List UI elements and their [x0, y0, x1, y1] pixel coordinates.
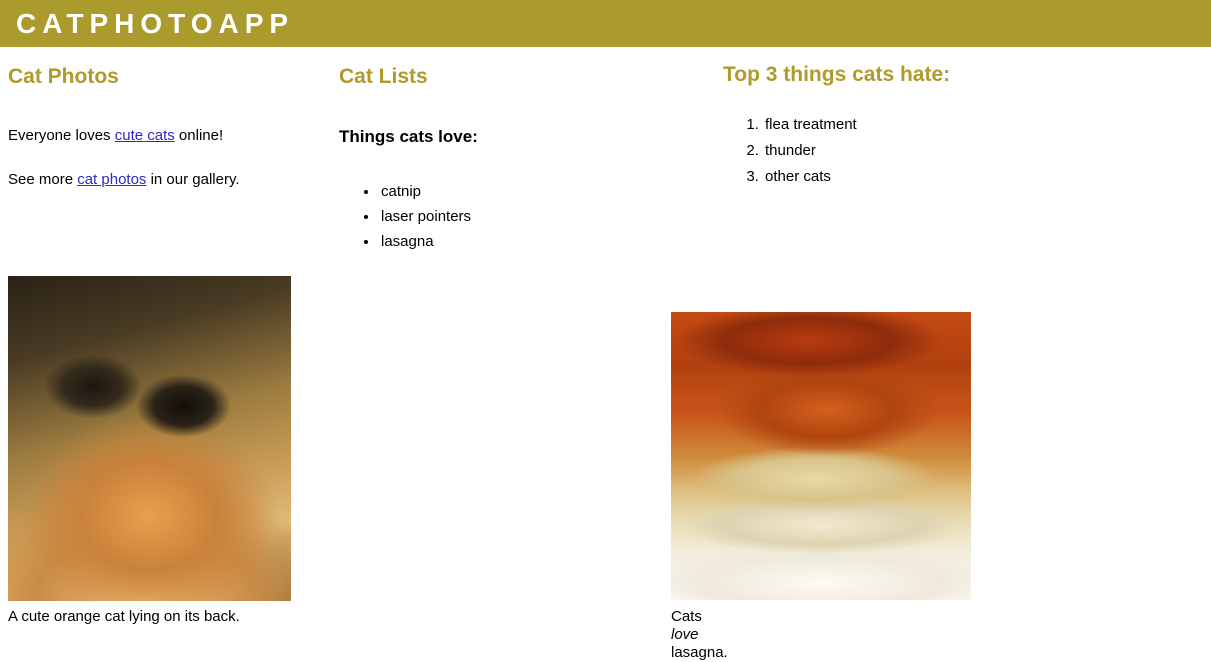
cat-photos-link[interactable]: cat photos	[77, 171, 146, 188]
column-cat-photos: Cat Photos Everyone loves cute cats onli…	[0, 47, 331, 189]
cute-cats-link[interactable]: cute cats	[115, 127, 175, 144]
list-item: catnip	[379, 179, 707, 204]
list-item: thunder	[763, 138, 1203, 164]
orange-cat-caption: A cute orange cat lying on its back.	[8, 608, 240, 626]
paragraph-2-text-post: in our gallery.	[146, 171, 239, 188]
lasagna-caption-pre: Cats	[671, 608, 702, 625]
things-cats-love-list: catnip laser pointers lasagna	[339, 179, 707, 254]
content-columns: Cat Photos Everyone loves cute cats onli…	[0, 47, 1211, 597]
lasagna-caption-post: lasagna.	[671, 644, 728, 661]
cat-lists-heading: Cat Lists	[339, 65, 707, 89]
lasagna-caption-emphasis: love	[671, 626, 699, 643]
list-item: flea treatment	[763, 112, 1203, 138]
cats-hate-heading: Top 3 things cats hate:	[723, 63, 1203, 87]
lasagna-photo[interactable]	[671, 312, 971, 600]
list-item: lasagna	[379, 229, 707, 254]
column-cats-hate: Top 3 things cats hate: flea treatment t…	[715, 47, 1211, 190]
paragraph-1-text-pre: Everyone loves	[8, 127, 115, 144]
paragraph-2-text-pre: See more	[8, 171, 77, 188]
app-title: CATPHOTOAPP	[0, 0, 1211, 47]
things-cats-hate-list: flea treatment thunder other cats	[723, 112, 1203, 190]
cat-photos-paragraph-1: Everyone loves cute cats online!	[8, 127, 323, 145]
list-item: laser pointers	[379, 204, 707, 229]
paragraph-1-text-post: online!	[175, 127, 223, 144]
lasagna-caption: Cats love lasagna.	[671, 608, 728, 662]
cat-photos-heading: Cat Photos	[8, 65, 323, 89]
cat-photos-paragraph-2: See more cat photos in our gallery.	[8, 171, 323, 189]
column-cat-lists: Cat Lists Things cats love: catnip laser…	[331, 47, 715, 254]
orange-cat-photo[interactable]	[8, 276, 291, 601]
site-header: CATPHOTOAPP	[0, 0, 1211, 47]
things-cats-love-heading: Things cats love:	[339, 127, 707, 147]
list-item: other cats	[763, 164, 1203, 190]
